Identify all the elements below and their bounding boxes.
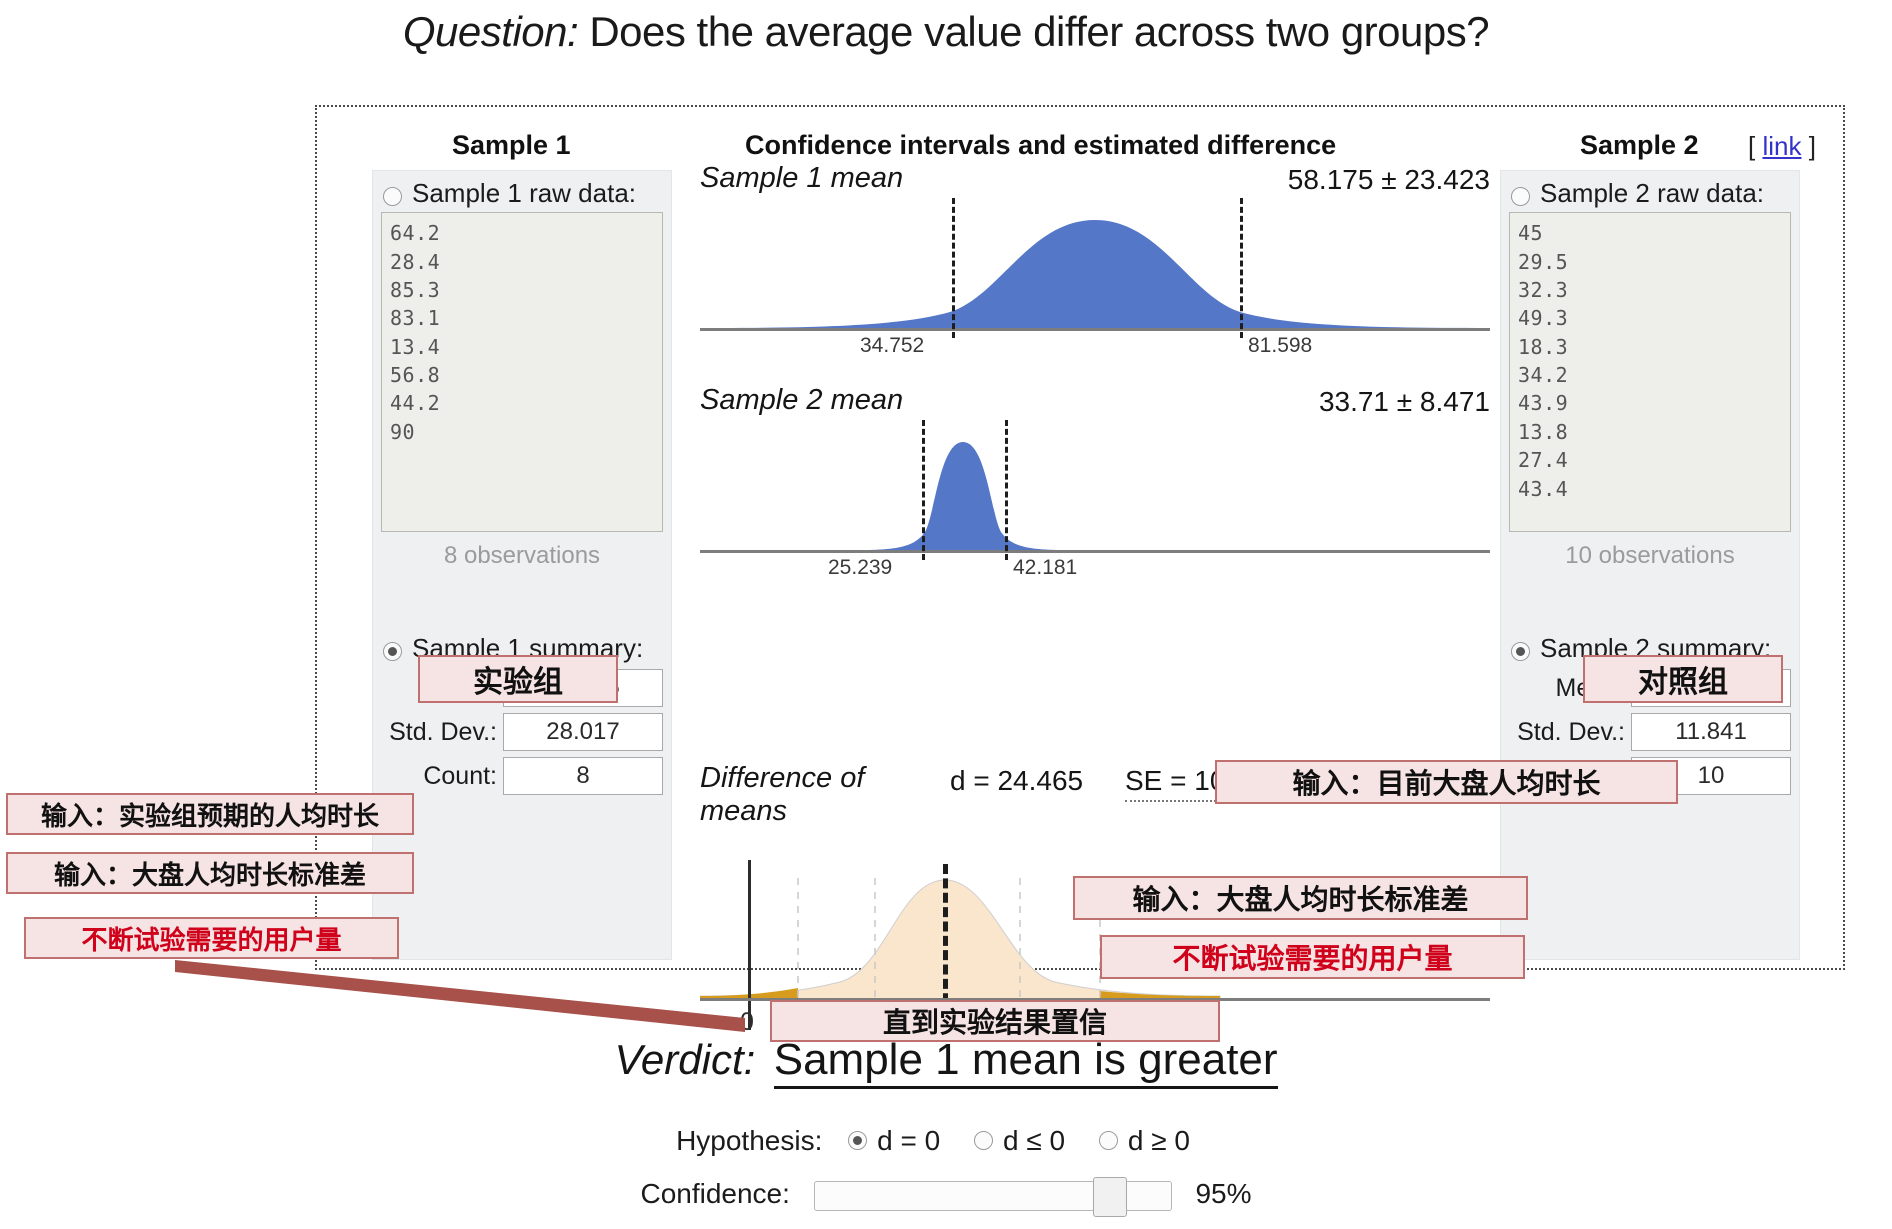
hypothesis-option-equal[interactable]: d = 0 (848, 1125, 940, 1157)
sample2-raw-label: Sample 2 raw data: (1540, 179, 1764, 208)
sample1-panel: Sample 1 raw data: 8 observations Sample… (372, 170, 672, 960)
confidence-slider[interactable] (814, 1181, 1172, 1211)
hypothesis-label-gte: d ≥ 0 (1128, 1125, 1190, 1156)
sample2-header: Sample 2 (1580, 130, 1699, 161)
annotation-experiment-group: 实验组 (418, 655, 618, 703)
sample1-ci-low-tick (952, 198, 955, 338)
sample1-distribution-curve (700, 200, 1490, 330)
sample1-raw-label: Sample 1 raw data: (412, 179, 636, 208)
confidence-value: 95% (1195, 1178, 1251, 1209)
verdict-row: Verdict: Sample 1 mean is greater (0, 1035, 1892, 1085)
sample2-summary-radio[interactable] (1511, 642, 1530, 661)
sample1-chart-value: 58.175 ± 23.423 (1288, 164, 1490, 196)
annotation-input-std-left: 输入：大盘人均时长标准差 (6, 852, 414, 894)
link-container: [ link ] (1748, 131, 1816, 162)
sample2-ci-low-label: 25.239 (828, 556, 892, 580)
confidence-label: Confidence: (640, 1178, 789, 1209)
sample1-summary-radio[interactable] (383, 642, 402, 661)
page-title: Question: Does the average value differ … (0, 8, 1892, 56)
hypothesis-radio-equal[interactable] (848, 1131, 867, 1150)
annotation-sample-size-right: 不断试验需要的用户量 (1100, 935, 1525, 979)
question-label: Question: (403, 8, 578, 55)
null-zero-axis (748, 860, 751, 1030)
sample2-ci-low-tick (922, 420, 925, 560)
annotation-control-group: 对照组 (1583, 655, 1783, 703)
sample2-chart-title: Sample 2 mean (700, 384, 903, 417)
annotation-sample-size-left: 不断试验需要的用户量 (24, 917, 399, 959)
annotation-input-expected-mean: 输入：实验组预期的人均时长 (6, 793, 414, 835)
sample2-axis (700, 550, 1490, 553)
confidence-row: Confidence: 95% (0, 1178, 1892, 1211)
sample1-count-input[interactable]: 8 (503, 757, 663, 795)
sample1-std-input[interactable]: 28.017 (503, 713, 663, 751)
sample2-chart-value: 33.71 ± 8.471 (1319, 386, 1490, 418)
sample1-raw-textarea[interactable] (381, 212, 663, 532)
sample1-ci-high-label: 81.598 (1248, 334, 1312, 358)
difference-d-value: d = 24.465 (950, 765, 1083, 797)
verdict-value: Sample 1 mean is greater (774, 1035, 1278, 1089)
confidence-slider-thumb[interactable] (1093, 1177, 1127, 1217)
sample2-raw-radio-row[interactable]: Sample 2 raw data: (1501, 171, 1799, 208)
hypothesis-option-gte[interactable]: d ≥ 0 (1099, 1125, 1190, 1157)
sample1-chart-title: Sample 1 mean (700, 162, 903, 195)
difference-title: Difference of means (700, 762, 910, 829)
sample1-ci-high-tick (1240, 198, 1243, 338)
bracket-open: [ (1748, 131, 1755, 161)
bracket-close: ] (1809, 131, 1816, 161)
sample1-observation-count: 8 observations (373, 542, 671, 570)
sample2-panel: Sample 2 raw data: 10 observations Sampl… (1500, 170, 1800, 960)
hypothesis-row: Hypothesis: d = 0 d ≤ 0 d ≥ 0 (0, 1125, 1892, 1157)
verdict-label: Verdict: (614, 1036, 755, 1083)
zero-label: 0 (740, 1008, 754, 1037)
middle-header: Confidence intervals and estimated diffe… (745, 130, 1336, 161)
sample1-ci-low-label: 34.752 (860, 334, 924, 358)
sample1-header: Sample 1 (452, 130, 571, 161)
sample2-std-row: Std. Dev.: 11.841 (1501, 713, 1791, 751)
permalink-link[interactable]: link (1762, 131, 1801, 161)
sample1-std-label: Std. Dev.: (389, 719, 497, 745)
hypothesis-radio-gte[interactable] (1099, 1131, 1118, 1150)
annotation-input-current-mean: 输入：目前大盘人均时长 (1215, 760, 1678, 804)
sample2-raw-textarea[interactable] (1509, 212, 1791, 532)
hypothesis-option-lte[interactable]: d ≤ 0 (974, 1125, 1065, 1157)
sample2-std-label: Std. Dev.: (1517, 719, 1625, 745)
sample2-raw-radio[interactable] (1511, 187, 1530, 206)
sample1-count-label: Count: (423, 763, 497, 789)
hypothesis-label: Hypothesis: (676, 1125, 822, 1156)
hypothesis-label-lte: d ≤ 0 (1003, 1125, 1065, 1156)
hypothesis-radio-lte[interactable] (974, 1131, 993, 1150)
annotation-input-std-right: 输入：大盘人均时长标准差 (1073, 876, 1528, 920)
annotation-until-confident: 直到实验结果置信 (770, 1000, 1220, 1042)
sample2-distribution-curve (700, 422, 1490, 552)
sample2-ci-high-tick (1005, 420, 1008, 560)
sample1-std-row: Std. Dev.: 28.017 (373, 713, 663, 751)
sample2-observation-count: 10 observations (1501, 542, 1799, 570)
sample1-axis (700, 328, 1490, 331)
question-text: Does the average value differ across two… (589, 8, 1489, 55)
sample2-ci-high-label: 42.181 (1013, 556, 1077, 580)
sample1-count-row: Count: 8 (373, 757, 663, 795)
sample1-raw-radio-row[interactable]: Sample 1 raw data: (373, 171, 671, 208)
sample1-raw-radio[interactable] (383, 187, 402, 206)
sample2-std-input[interactable]: 11.841 (1631, 713, 1791, 751)
hypothesis-label-equal: d = 0 (877, 1125, 940, 1156)
